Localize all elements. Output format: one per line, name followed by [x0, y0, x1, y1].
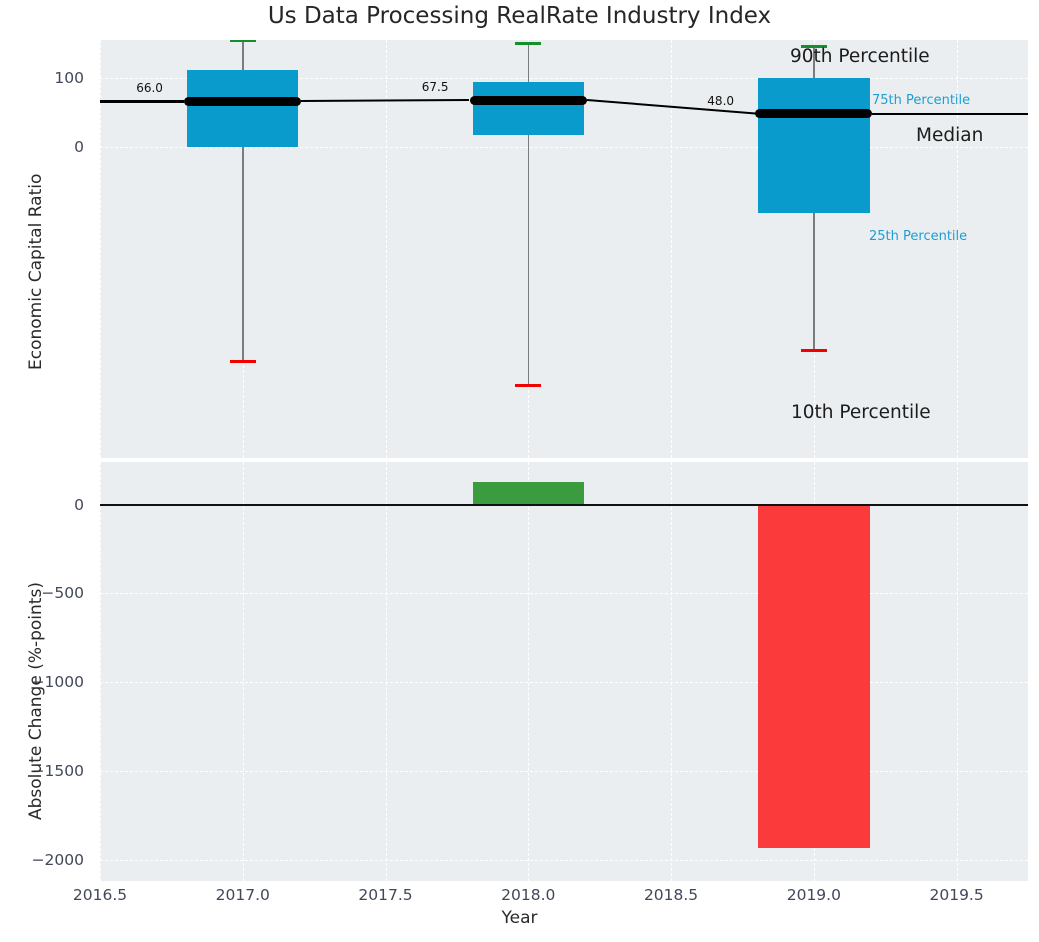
chart-figure: Us Data Processing RealRate Industry Ind… [0, 0, 1039, 942]
median-value-label: 67.5 [422, 80, 449, 94]
zero-baseline [100, 504, 1028, 506]
box-interquartile-range [473, 82, 584, 135]
chart-title: Us Data Processing RealRate Industry Ind… [0, 3, 1039, 29]
annotation-75th: 75th Percentile [872, 93, 970, 108]
bottom-panel-plot-area [100, 462, 1028, 881]
bottom-panel-change-bars [100, 462, 1028, 881]
x-tick-label: 2019.0 [754, 886, 874, 904]
grid-line-vertical [100, 462, 101, 881]
grid-line-horizontal [100, 682, 1028, 683]
median-value-label: 66.0 [136, 81, 163, 95]
y-axis-label-bottom: Absolute Change (%-points) [26, 582, 46, 820]
grid-line-vertical [386, 40, 387, 458]
y-tick-label-bottom: −1000 [0, 673, 92, 691]
x-tick-label: 2017.0 [183, 886, 303, 904]
y-axis-label-top: Economic Capital Ratio [26, 174, 46, 370]
x-tick-label: 2016.5 [40, 886, 160, 904]
median-line-tail [872, 113, 1028, 115]
grid-line-vertical [386, 462, 387, 881]
grid-line-horizontal [100, 593, 1028, 594]
x-axis-label: Year [0, 908, 1039, 928]
cap-10th-percentile [515, 384, 541, 387]
grid-line-vertical [100, 40, 101, 458]
y-tick-label-bottom: −1500 [0, 762, 92, 780]
y-tick-label-bottom: −500 [0, 584, 92, 602]
cap-90th-percentile [230, 40, 256, 42]
x-tick-label: 2018.5 [611, 886, 731, 904]
change-bar-negative [758, 505, 869, 849]
median-line-lead [100, 100, 184, 102]
x-tick-label: 2017.5 [326, 886, 446, 904]
annotation-25th: 25th Percentile [869, 229, 967, 244]
x-tick-label: 2018.0 [468, 886, 588, 904]
annotation-median: Median [916, 125, 983, 146]
grid-line-horizontal [100, 771, 1028, 772]
grid-line-vertical [957, 462, 958, 881]
median-marker [470, 96, 587, 105]
cap-10th-percentile [801, 349, 827, 352]
grid-line-vertical [671, 462, 672, 881]
grid-line-horizontal [100, 860, 1028, 861]
median-marker [755, 109, 872, 118]
cap-10th-percentile [230, 360, 256, 363]
box-interquartile-range [758, 78, 869, 213]
change-bar-positive [473, 482, 584, 505]
annotation-10th: 10th Percentile [791, 402, 931, 423]
grid-line-vertical [528, 462, 529, 881]
y-tick-label-top: 0 [0, 138, 92, 156]
grid-line-horizontal [100, 147, 1028, 148]
box-interquartile-range [187, 70, 298, 147]
median-marker [184, 97, 301, 106]
cap-90th-percentile [515, 42, 541, 45]
annotation-90th: 90th Percentile [790, 46, 930, 67]
grid-line-vertical [671, 40, 672, 458]
y-tick-label-top: 100 [0, 69, 92, 87]
grid-line-vertical [243, 462, 244, 881]
y-tick-label-bottom: 0 [0, 496, 92, 514]
x-tick-label: 2019.5 [897, 886, 1017, 904]
median-value-label: 48.0 [707, 94, 734, 108]
y-tick-label-bottom: −2000 [0, 851, 92, 869]
